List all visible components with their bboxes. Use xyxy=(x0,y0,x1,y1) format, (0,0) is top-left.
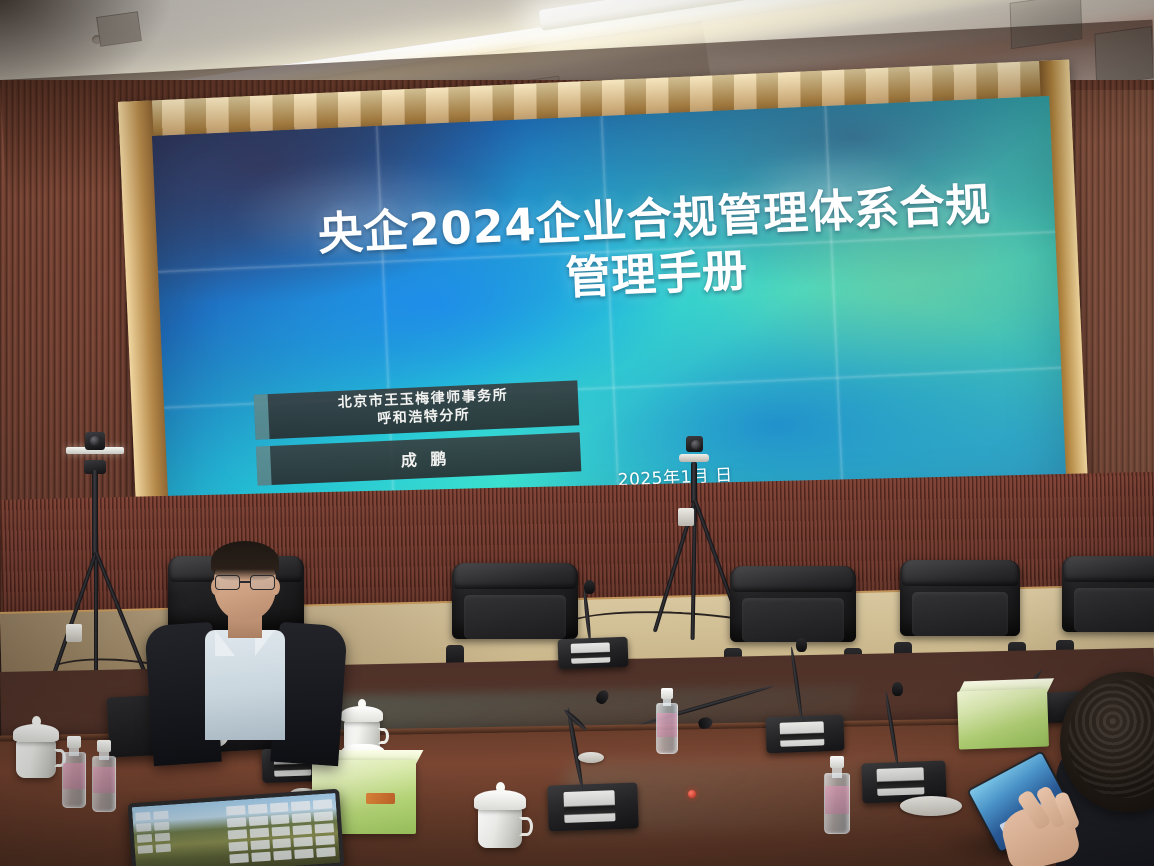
tripod-center-column xyxy=(691,462,697,504)
subtitle-accent-tab xyxy=(256,446,272,486)
tripod-mount-plate xyxy=(679,454,709,462)
bottle-label xyxy=(63,763,85,789)
chair-lumbar xyxy=(464,595,566,639)
bottle-3 xyxy=(824,756,850,834)
presenter xyxy=(180,546,310,766)
tripod-camera xyxy=(85,432,105,450)
chair-3 xyxy=(730,566,856,656)
bottle-label xyxy=(93,767,115,793)
lcd-video-wall[interactable]: 央企2024企业合规管理体系合规 管理手册 北京市王玉梅律师事务所 呼和浩特分所… xyxy=(152,96,1067,542)
mic-3-capsule xyxy=(584,580,595,594)
tripod-center-column xyxy=(92,470,98,560)
tripod-accessory-box xyxy=(66,624,82,642)
cup-2 xyxy=(478,790,522,848)
speaker-name: 成 鹏 xyxy=(278,439,573,476)
conference-room-photo: 央企2024企业合规管理体系合规 管理手册 北京市王玉梅律师事务所 呼和浩特分所… xyxy=(0,0,1154,866)
mic-5-capsule xyxy=(892,682,903,696)
chair-headrest xyxy=(1064,556,1154,582)
bottle-cap xyxy=(97,740,110,752)
laptop-2[interactable] xyxy=(128,789,345,866)
mic-control-panel xyxy=(570,642,610,663)
eyeglass-bridge xyxy=(240,581,250,583)
mic-2-base[interactable] xyxy=(547,782,639,831)
bottle-cap xyxy=(661,688,673,699)
chair-headrest xyxy=(454,563,576,589)
mic-2-status-led xyxy=(688,790,696,798)
speaker-name-bar: 成 鹏 xyxy=(256,432,581,485)
mic-4-base[interactable] xyxy=(765,715,844,754)
bottle-cap xyxy=(830,756,845,768)
cup-handle xyxy=(519,817,532,837)
chair-5 xyxy=(1062,556,1154,648)
chair-lumbar xyxy=(1074,588,1154,632)
law-firm-bar: 北京市王玉梅律师事务所 呼和浩特分所 xyxy=(254,380,580,439)
mic-3-base[interactable] xyxy=(557,637,628,669)
bottle-2 xyxy=(656,688,678,754)
bottle-4 xyxy=(62,736,86,808)
slide-subtitle-block: 北京市王玉梅律师事务所 呼和浩特分所 成 鹏 xyxy=(254,380,582,485)
cup-handle xyxy=(378,728,389,744)
bottle-cap xyxy=(67,736,80,748)
tripod-camera xyxy=(686,436,703,452)
eyeglass-lens xyxy=(250,575,275,590)
bottle-label xyxy=(825,786,849,814)
chair-lumbar xyxy=(742,598,844,642)
tissue-box-logo xyxy=(366,793,395,805)
mic-cable-puck xyxy=(578,752,604,763)
mic-control-panel xyxy=(780,721,824,746)
cup-lid-knob xyxy=(32,716,41,727)
laptop-desktop-icon-grid[interactable] xyxy=(226,799,336,866)
mic-4-capsule xyxy=(796,638,807,652)
bottle-5 xyxy=(92,740,116,812)
mic-control-panel xyxy=(877,768,925,796)
eyeglasses xyxy=(215,575,275,591)
chair-headrest xyxy=(732,566,854,592)
cup-body xyxy=(16,739,56,778)
panel-seam-vertical xyxy=(601,116,621,522)
subtitle-accent-tab xyxy=(254,394,270,439)
tripod-2 xyxy=(664,452,724,637)
tissue-box-front xyxy=(957,688,1049,749)
laptop-desktop-icons-left[interactable] xyxy=(135,811,170,854)
saucer xyxy=(900,796,962,816)
tripod-1 xyxy=(52,452,138,702)
chair-4 xyxy=(900,560,1020,650)
cup-body xyxy=(478,806,522,848)
bottle-label xyxy=(657,713,677,737)
tissue-2 xyxy=(957,688,1049,749)
tripod-accessory-box xyxy=(678,508,694,526)
eyeglass-lens xyxy=(215,575,240,590)
cup-3 xyxy=(16,724,56,778)
chair-headrest xyxy=(902,560,1018,586)
mic-control-panel xyxy=(564,791,615,823)
chair-lumbar xyxy=(912,592,1008,636)
